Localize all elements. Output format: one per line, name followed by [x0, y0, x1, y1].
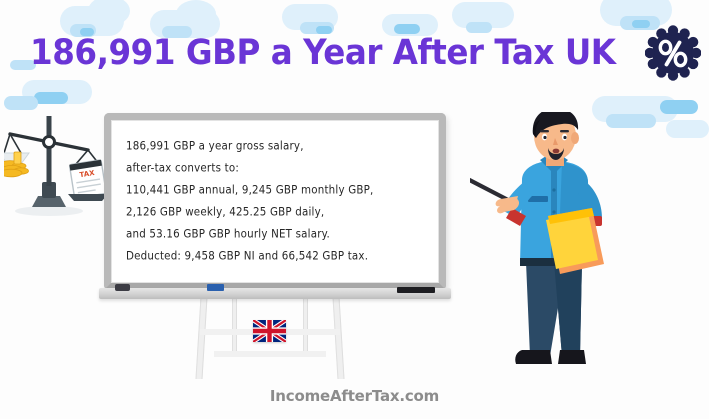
infographic-page: 186,991 GBP a Year After Tax UK: [0, 0, 709, 419]
percent-badge-icon: [645, 25, 701, 81]
site-brand: IncomeAfterTax.com: [0, 387, 709, 405]
cloud-shape: [660, 100, 698, 114]
eraser-icon: [115, 284, 130, 291]
black-marker-icon: [397, 287, 435, 293]
board-text-line: 186,991 GBP a year gross salary,: [126, 134, 420, 159]
whiteboard-tray: [99, 288, 451, 299]
pointer-stick-icon: [470, 170, 512, 202]
balance-scales-icon: TAX: [4, 108, 112, 218]
stand-leg-left: [195, 297, 207, 379]
board-text-line: 2,126 GBP weekly, 425.25 GBP daily,: [126, 200, 420, 225]
board-text-line: 110,441 GBP annual, 9,245 GBP monthly GB…: [126, 178, 420, 203]
blue-marker-icon: [207, 284, 224, 291]
uk-flag-icon: [253, 320, 286, 342]
cloud-shape: [666, 120, 709, 138]
board-text-line: and 53.16 GBP GBP hourly NET salary.: [126, 222, 420, 247]
board-text-line: after-tax converts to:: [126, 156, 420, 181]
board-text-line: Deducted: 9,458 GBP NI and 66,542 GBP ta…: [126, 244, 420, 269]
stand-crossbar-lower: [214, 351, 326, 357]
stand-leg-right: [332, 297, 344, 379]
whiteboard-surface: 186,991 GBP a year gross salary, after-t…: [111, 120, 439, 283]
stand-leg-inner-right: [303, 297, 308, 357]
whiteboard: 186,991 GBP a year gross salary, after-t…: [104, 113, 446, 290]
cloud-shape: [34, 92, 68, 104]
presenter-illustration: [470, 112, 645, 382]
stand-leg-inner-left: [232, 297, 237, 357]
title-row: 186,991 GBP a Year After Tax UK: [0, 22, 709, 84]
page-title: 186,991 GBP a Year After Tax UK: [30, 33, 616, 73]
